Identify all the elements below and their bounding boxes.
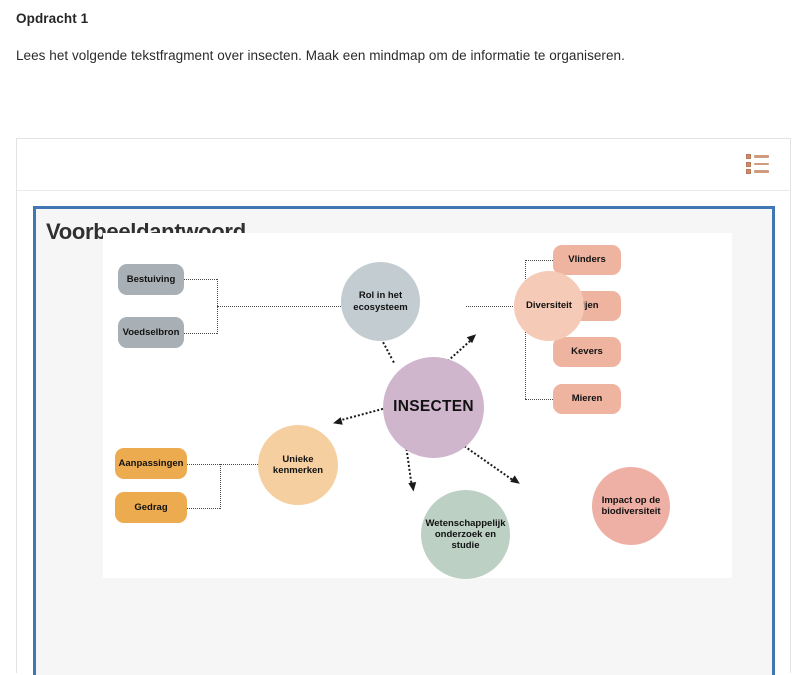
connector-mieren: [525, 399, 553, 400]
node-vlinders[interactable]: Vlinders: [553, 245, 621, 275]
list-icon-square: [746, 154, 751, 159]
node-label: Gedrag: [134, 502, 167, 513]
node-label: Unieke kenmerken: [258, 454, 338, 476]
node-unieke-kenmerken[interactable]: Unieke kenmerken: [258, 425, 338, 505]
node-aanpassingen[interactable]: Aanpassingen: [115, 448, 187, 479]
node-label: Wetenschappelijk onderzoek en studie: [421, 518, 510, 552]
node-insecten-center[interactable]: INSECTEN: [383, 357, 484, 458]
assignment-description: Lees het volgende tekstfragment over ins…: [16, 48, 625, 63]
node-wetenschappelijk-onderzoek[interactable]: Wetenschappelijk onderzoek en studie: [421, 490, 510, 579]
connector-bestuiving: [184, 279, 217, 280]
list-icon-row: [746, 154, 772, 159]
list-view-icon[interactable]: [746, 152, 772, 176]
connector-voedselbron: [184, 333, 217, 334]
list-icon-square: [746, 162, 751, 167]
node-label: Aanpassingen: [119, 458, 184, 469]
list-icon-row: [746, 162, 772, 167]
viewer-toolbar: [17, 139, 790, 191]
node-impact-biodiversiteit[interactable]: Impact op de biodiversiteit: [592, 467, 670, 545]
document-frame[interactable]: Voorbeeldantwoord: [33, 206, 775, 675]
connector-gray-to-branch: [217, 306, 341, 307]
document-viewer-card: Voorbeeldantwoord: [16, 138, 791, 673]
connector-vlinders: [525, 260, 553, 261]
node-label: Diversiteit: [526, 300, 572, 311]
connector-orange-spine: [220, 464, 221, 509]
node-bestuiving[interactable]: Bestuiving: [118, 264, 184, 295]
node-rol-in-het-ecosysteem[interactable]: Rol in het ecosysteem: [341, 262, 420, 341]
node-mieren[interactable]: Mieren: [553, 384, 621, 414]
node-label: Voedselbron: [123, 327, 180, 338]
page-title: Opdracht 1: [16, 11, 88, 26]
connector-aanpassingen: [182, 464, 220, 465]
list-icon-line: [754, 155, 769, 158]
node-diversiteit[interactable]: Diversiteit: [514, 271, 584, 341]
list-icon-line: [754, 170, 769, 173]
list-icon-row: [746, 169, 772, 174]
node-label: Kevers: [571, 346, 603, 357]
list-icon-square: [746, 169, 751, 174]
node-voedselbron[interactable]: Voedselbron: [118, 317, 184, 348]
list-icon-line: [754, 163, 769, 166]
node-label: Rol in het ecosysteem: [341, 290, 420, 312]
node-label: Vlinders: [568, 254, 606, 265]
node-label: Impact op de biodiversiteit: [592, 495, 670, 517]
node-gedrag[interactable]: Gedrag: [115, 492, 187, 523]
connector-gedrag: [182, 508, 220, 509]
node-label: Mieren: [572, 393, 603, 404]
page-root: Opdracht 1 Lees het volgende tekstfragme…: [0, 0, 807, 675]
mindmap-canvas: Bestuiving Voedselbron Vlinders Bijen Ke…: [103, 233, 732, 578]
connector-orange-to-branch: [220, 464, 258, 465]
node-label: INSECTEN: [393, 398, 474, 416]
node-kevers[interactable]: Kevers: [553, 337, 621, 367]
node-label: Bestuiving: [127, 274, 176, 285]
